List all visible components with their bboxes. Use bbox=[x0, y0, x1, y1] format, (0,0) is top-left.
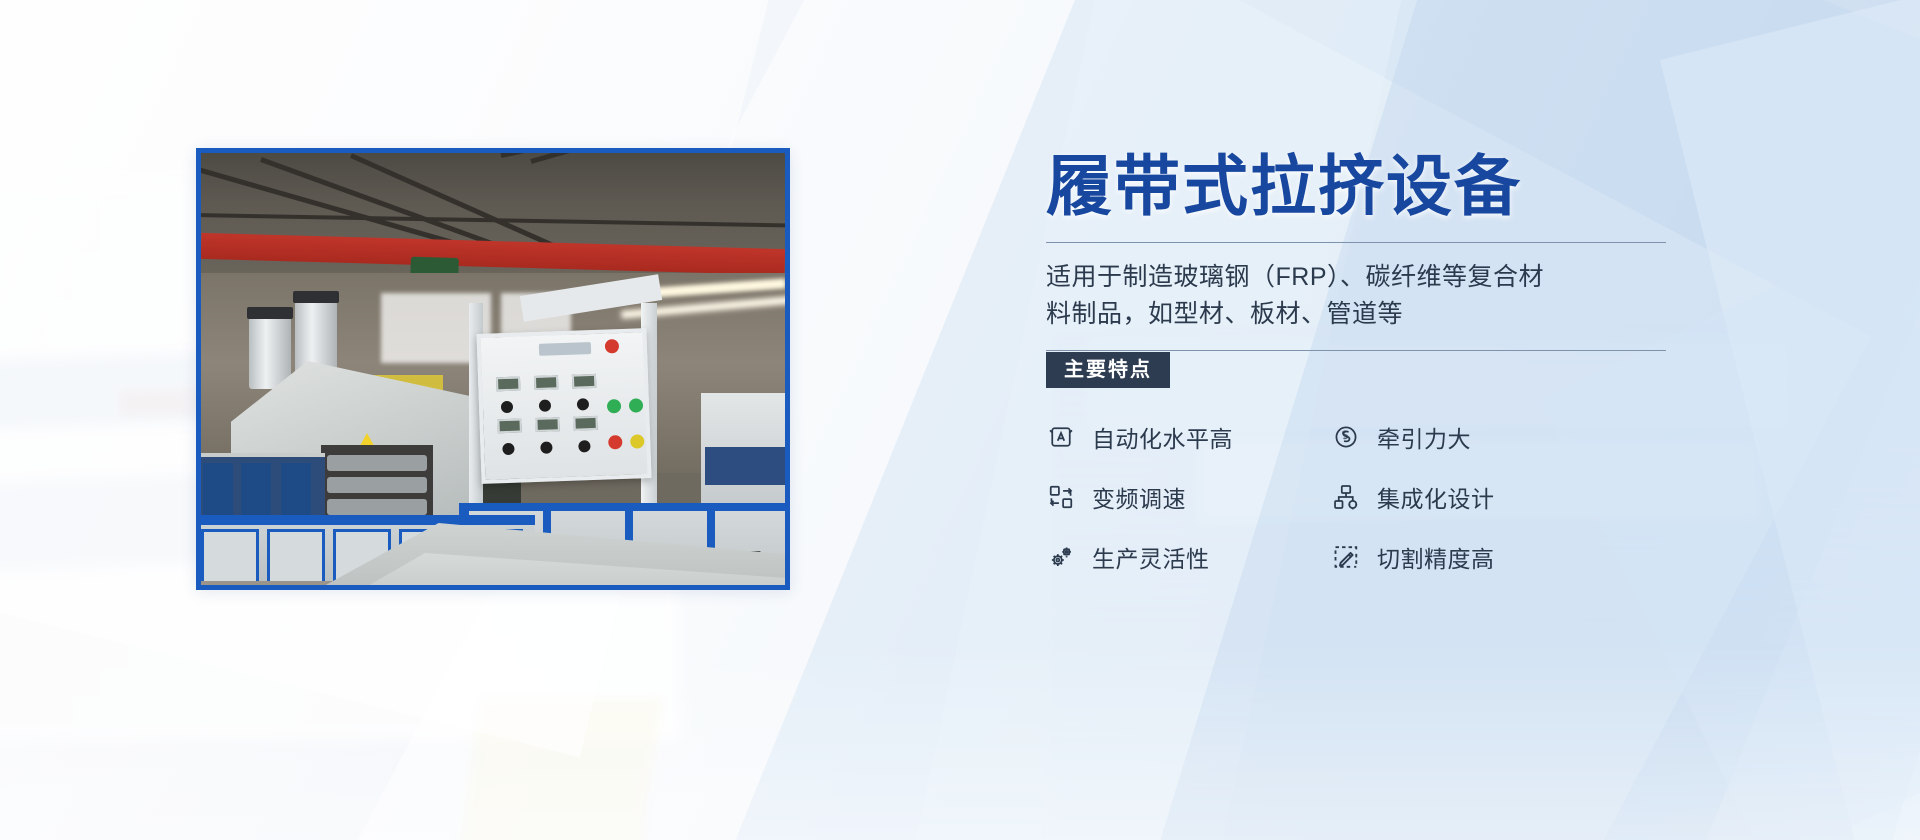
subtitle-line-1: 适用于制造玻璃钢（FRP）、碳纤维等复合材 bbox=[1046, 259, 1666, 297]
photo-panel-lamp-green bbox=[629, 398, 643, 412]
feature-label: 牵引力大 bbox=[1377, 420, 1471, 454]
photo-panel-lamp-red bbox=[605, 339, 619, 353]
background-bottom-fade bbox=[0, 640, 1920, 840]
photo-cylinder-cap bbox=[293, 291, 339, 303]
feature-item-traction: 牵引力大 bbox=[1331, 420, 1616, 454]
features-grid: 自动化水平高 牵引力大 bbox=[1046, 420, 1666, 574]
feature-item-automation: 自动化水平高 bbox=[1046, 420, 1331, 454]
photo-cylinder-cap bbox=[247, 307, 293, 319]
product-photo bbox=[196, 148, 790, 590]
features-badge: 主要特点 bbox=[1046, 352, 1170, 388]
feature-item-integration: 集成化设计 bbox=[1331, 480, 1616, 514]
feature-label: 自动化水平高 bbox=[1092, 420, 1233, 454]
cutting-precision-icon bbox=[1331, 542, 1361, 572]
features-divider bbox=[1046, 350, 1666, 351]
photo-panel-knob bbox=[540, 441, 552, 453]
title-divider bbox=[1046, 242, 1666, 243]
photo-caterpillar-belt bbox=[327, 477, 427, 493]
photo-panel-lamp-yellow bbox=[630, 434, 644, 448]
photo-panel-lamp-green bbox=[607, 399, 621, 413]
photo-caterpillar-puller bbox=[321, 445, 433, 523]
page-title: 履带式拉挤设备 bbox=[1046, 150, 1666, 224]
photo-control-panel bbox=[476, 328, 651, 484]
photo-panel-knob bbox=[539, 399, 551, 411]
traction-icon bbox=[1331, 422, 1361, 452]
photo-panel-knob bbox=[577, 398, 589, 410]
feature-item-cutting-precision: 切割精度高 bbox=[1331, 540, 1616, 574]
photo-window-pane bbox=[203, 463, 233, 517]
photo-machine-slot bbox=[705, 447, 785, 485]
photo-cabinet-door bbox=[267, 529, 325, 585]
feature-item-frequency-speed: 变频调速 bbox=[1046, 480, 1331, 514]
photo-panel-meter bbox=[572, 374, 596, 389]
photo-window-pane bbox=[241, 463, 271, 517]
features-header: 主要特点 bbox=[1046, 350, 1666, 384]
feature-label: 变频调速 bbox=[1092, 480, 1186, 514]
photo-panel-meter bbox=[497, 418, 521, 433]
feature-item-gears: 生产灵活性 bbox=[1046, 540, 1331, 574]
banner-content: 履带式拉挤设备 适用于制造玻璃钢（FRP）、碳纤维等复合材 料制品，如型材、板材… bbox=[1046, 150, 1666, 574]
banner-subtitle: 适用于制造玻璃钢（FRP）、碳纤维等复合材 料制品，如型材、板材、管道等 bbox=[1046, 259, 1666, 334]
photo-caterpillar-belt bbox=[327, 499, 427, 515]
subtitle-line-2: 料制品，如型材、板材、管道等 bbox=[1046, 296, 1666, 334]
photo-panel-logo bbox=[539, 342, 591, 356]
photo-panel-lamp-red bbox=[608, 435, 622, 449]
factory-photo bbox=[201, 153, 785, 585]
photo-panel-knob bbox=[502, 443, 514, 455]
feature-label: 集成化设计 bbox=[1377, 480, 1495, 514]
photo-roof-beam bbox=[530, 153, 785, 164]
photo-cabinet-door bbox=[201, 529, 259, 585]
photo-hydraulic-cylinder bbox=[249, 317, 291, 389]
photo-panel-knob bbox=[578, 440, 590, 452]
photo-panel-meter bbox=[496, 377, 520, 392]
feature-label: 切割精度高 bbox=[1377, 540, 1495, 574]
feature-label: 生产灵活性 bbox=[1092, 540, 1210, 574]
photo-right-machine bbox=[701, 393, 785, 503]
integration-icon bbox=[1331, 482, 1361, 512]
frequency-speed-icon bbox=[1046, 482, 1076, 512]
photo-machine-window bbox=[201, 453, 325, 521]
photo-panel-meter bbox=[573, 416, 597, 431]
automation-icon bbox=[1046, 422, 1076, 452]
photo-caterpillar-belt bbox=[327, 455, 427, 471]
photo-window-pane bbox=[281, 463, 311, 517]
photo-panel-meter bbox=[535, 417, 559, 432]
photo-panel-meter bbox=[534, 375, 558, 390]
photo-panel-knob bbox=[501, 401, 513, 413]
gears-icon bbox=[1046, 542, 1076, 572]
